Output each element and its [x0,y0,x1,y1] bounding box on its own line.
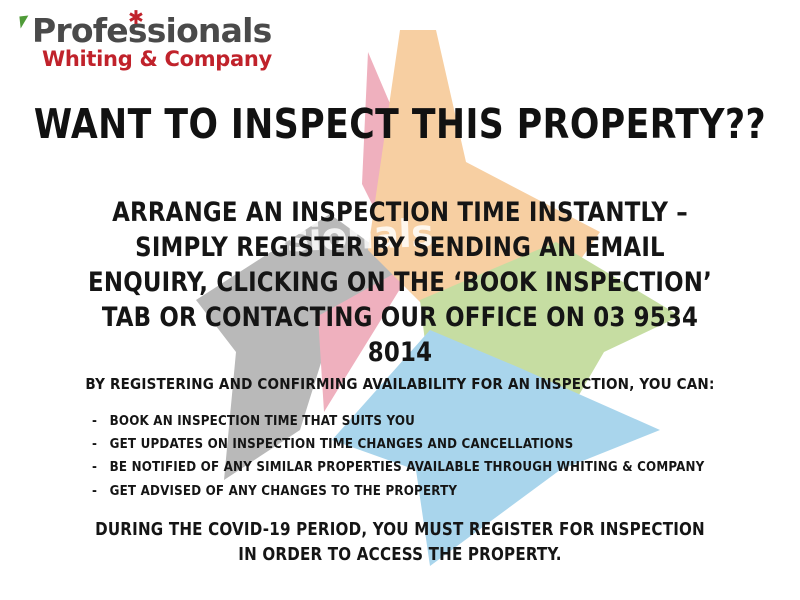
asterisk-icon: ✱ [128,9,143,28]
list-item: - GET UPDATES ON INSPECTION TIME CHANGES… [92,433,705,456]
poster-content: WANT TO INSPECT THIS PROPERTY?? ARRANGE … [0,0,800,600]
list-marker: - [92,480,110,503]
list-marker: - [92,410,110,433]
covid-notice-text: DURING THE COVID-19 PERIOD, YOU MUST REG… [83,518,717,568]
benefits-intro-text: BY REGISTERING AND CONFIRMING AVAILABILI… [12,375,788,393]
list-item: - BOOK AN INSPECTION TIME THAT SUITS YOU [92,410,705,433]
page-title: WANT TO INSPECT THIS PROPERTY?? [24,100,776,148]
list-item: - GET ADVISED OF ANY CHANGES TO THE PROP… [92,480,705,503]
list-item-label: BOOK AN INSPECTION TIME THAT SUITS YOU [110,410,415,433]
benefits-list: - BOOK AN INSPECTION TIME THAT SUITS YOU… [92,410,717,503]
logo-brand-name: Professionals ✱ [20,14,272,47]
list-item-label: BE NOTIFIED OF ANY SIMILAR PROPERTIES AV… [110,456,705,479]
list-marker: - [92,456,110,479]
list-item-label: GET UPDATES ON INSPECTION TIME CHANGES A… [110,433,574,456]
poster-canvas: Professionals Professionals ✱ Whiting & … [0,0,800,600]
company-logo: Professionals ✱ Whiting & Company [20,14,272,70]
list-marker: - [92,433,110,456]
subheadline-text: ARRANGE AN INSPECTION TIME INSTANTLY – S… [76,196,725,371]
list-item-label: GET ADVISED OF ANY CHANGES TO THE PROPER… [110,480,458,503]
list-item: - BE NOTIFIED OF ANY SIMILAR PROPERTIES … [92,456,705,479]
logo-office-name: Whiting & Company [20,49,272,70]
logo-brand-text: Professionals [32,11,271,50]
